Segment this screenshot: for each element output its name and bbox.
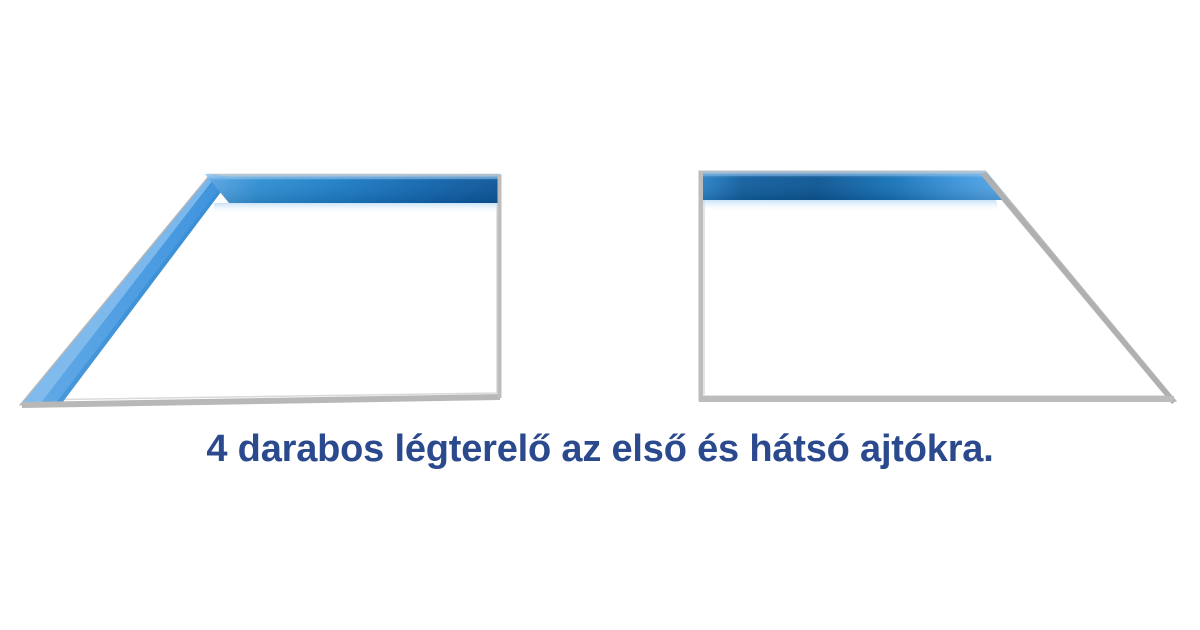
front-band-glow (214, 203, 498, 214)
front-top-edge-line (206, 174, 500, 177)
caption-text: 4 darabos légterelő az első és hátsó ajt… (0, 428, 1200, 471)
rear-top-edge-line (700, 171, 987, 174)
rear-bottom-rail (700, 396, 1174, 402)
rear-door-wind-deflector (699, 171, 1176, 405)
rear-band-glow (702, 200, 1000, 212)
rear-left-edge (699, 172, 703, 402)
wind-deflector-illustration (0, 0, 1200, 630)
product-image-canvas: 4 darabos légterelő az első és hátsó ajt… (0, 0, 1200, 630)
front-right-edge (498, 176, 502, 398)
front-door-wind-deflector (22, 174, 502, 409)
